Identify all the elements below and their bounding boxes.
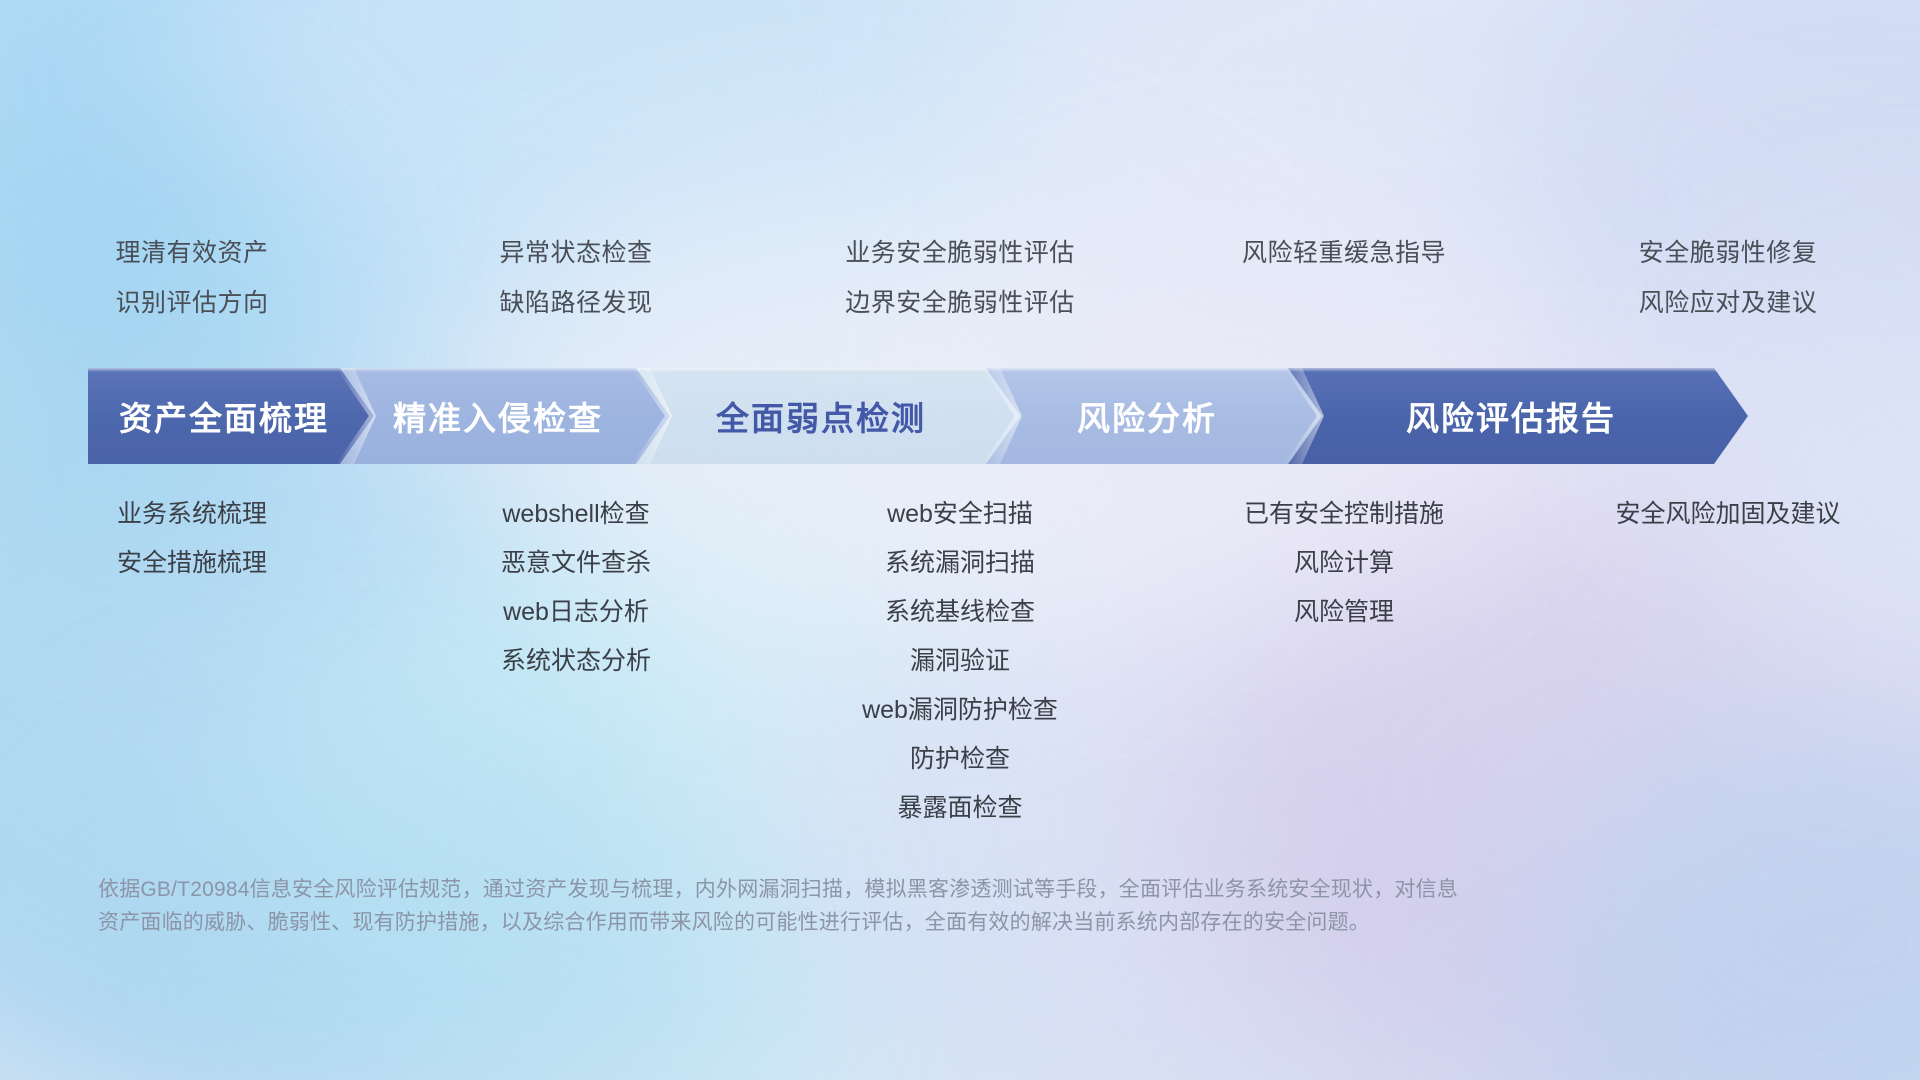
top-column-1: 理清有效资产 识别评估方向	[0, 228, 384, 328]
chevron-stage-3[interactable]: 全面弱点检测	[636, 368, 1020, 464]
top-column-2: 异常状态检查 缺陷路径发现	[384, 228, 768, 328]
chevron-label: 精准入侵检查	[393, 392, 603, 440]
chevron-stage-1[interactable]: 资产全面梳理	[88, 368, 374, 464]
top-item: 识别评估方向	[6, 278, 378, 328]
list-item: web安全扫描	[774, 490, 1146, 539]
top-item: 风险应对及建议	[1542, 278, 1914, 328]
top-item: 缺陷路径发现	[390, 278, 762, 328]
chevron-label: 风险评估报告	[1406, 392, 1616, 440]
chevron-label: 风险分析	[1077, 392, 1217, 440]
chevron-stage-5[interactable]: 风险评估报告	[1288, 368, 1748, 464]
chevron-label: 全面弱点检测	[716, 392, 926, 440]
list-item: 恶意文件查杀	[390, 539, 762, 588]
top-item: 风险轻重缓急指导	[1158, 228, 1530, 278]
footer-line-2: 资产面临的威胁、脆弱性、现有防护措施，以及综合作用而带来风险的可能性进行评估，全…	[98, 906, 1598, 939]
list-item: 安全措施梳理	[6, 539, 378, 588]
chevron-band: 资产全面梳理 精准入侵检查 全面弱点检测 风险分析 风险评估报告	[88, 368, 1850, 464]
list-item: 暴露面检查	[774, 784, 1146, 833]
list-item: 防护检查	[774, 735, 1146, 784]
list-item: 漏洞验证	[774, 637, 1146, 686]
list-item: webshell检查	[390, 490, 762, 539]
list-item: web漏洞防护检查	[774, 686, 1146, 735]
list-item: 系统漏洞扫描	[774, 539, 1146, 588]
list-item: 风险计算	[1158, 539, 1530, 588]
bottom-list-row: 业务系统梳理 安全措施梳理 webshell检查 恶意文件查杀 web日志分析 …	[0, 490, 1920, 833]
list-item: 风险管理	[1158, 588, 1530, 637]
top-item: 异常状态检查	[390, 228, 762, 278]
footer-description: 依据GB/T20984信息安全风险评估规范，通过资产发现与梳理，内外网漏洞扫描，…	[98, 873, 1598, 939]
bottom-column-5: 安全风险加固及建议	[1536, 490, 1920, 539]
top-item: 边界安全脆弱性评估	[774, 278, 1146, 328]
top-column-3: 业务安全脆弱性评估 边界安全脆弱性评估	[768, 228, 1152, 328]
top-item: 业务安全脆弱性评估	[774, 228, 1146, 278]
list-item: web日志分析	[390, 588, 762, 637]
list-item: 系统基线检查	[774, 588, 1146, 637]
bottom-column-1: 业务系统梳理 安全措施梳理	[0, 490, 384, 588]
bottom-column-3: web安全扫描 系统漏洞扫描 系统基线检查 漏洞验证 web漏洞防护检查 防护检…	[768, 490, 1152, 833]
top-item: 理清有效资产	[6, 228, 378, 278]
chevron-stage-2[interactable]: 精准入侵检查	[340, 368, 670, 464]
list-item: 安全风险加固及建议	[1542, 490, 1914, 539]
list-item: 业务系统梳理	[6, 490, 378, 539]
bottom-column-4: 已有安全控制措施 风险计算 风险管理	[1152, 490, 1536, 637]
top-column-5: 安全脆弱性修复 风险应对及建议	[1536, 228, 1920, 328]
top-label-row: 理清有效资产 识别评估方向 异常状态检查 缺陷路径发现 业务安全脆弱性评估 边界…	[0, 228, 1920, 328]
list-item: 已有安全控制措施	[1158, 490, 1530, 539]
footer-line-1: 依据GB/T20984信息安全风险评估规范，通过资产发现与梳理，内外网漏洞扫描，…	[98, 873, 1598, 906]
bottom-column-2: webshell检查 恶意文件查杀 web日志分析 系统状态分析	[384, 490, 768, 686]
process-diagram: 理清有效资产 识别评估方向 异常状态检查 缺陷路径发现 业务安全脆弱性评估 边界…	[0, 0, 1920, 1080]
top-column-4: 风险轻重缓急指导	[1152, 228, 1536, 328]
chevron-label: 资产全面梳理	[119, 392, 329, 440]
top-item: 安全脆弱性修复	[1542, 228, 1914, 278]
chevron-stage-4[interactable]: 风险分析	[986, 368, 1322, 464]
list-item: 系统状态分析	[390, 637, 762, 686]
